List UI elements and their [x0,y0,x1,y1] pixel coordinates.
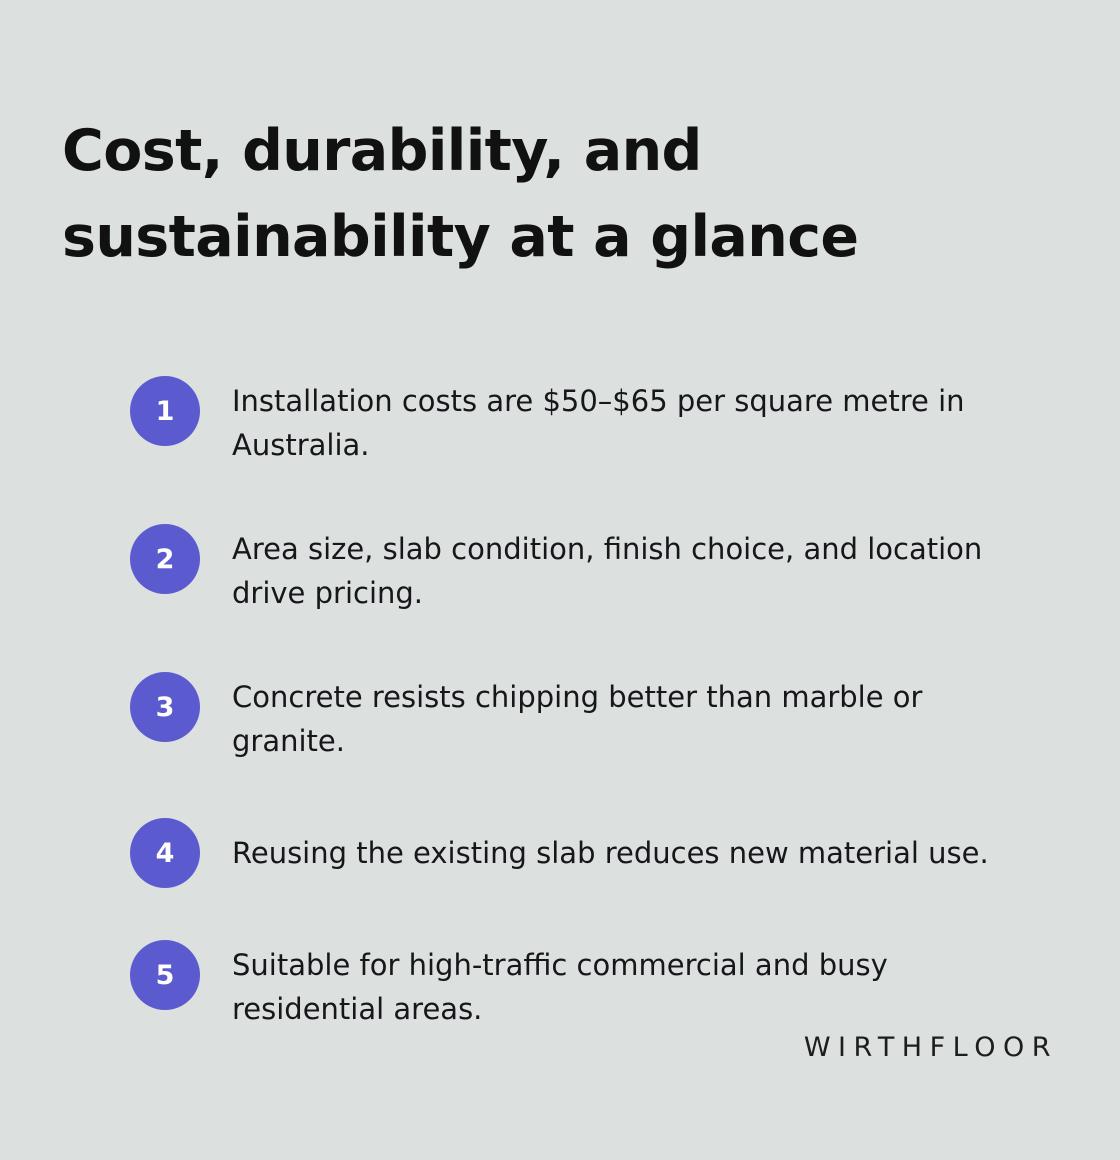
numbered-list: 1 Installation costs are $50–$65 per squ… [130,374,1060,1031]
infographic-poster: Cost, durability, and sustainability at … [0,0,1120,1160]
list-item-text: Concrete resists chipping better than ma… [232,670,1000,763]
list-item-text: Installation costs are $50–$65 per squar… [232,374,1000,467]
list-item: 5 Suitable for high-traffic commercial a… [130,938,1060,1031]
list-item-number-badge: 2 [130,524,200,594]
list-item-text: Reusing the existing slab reduces new ma… [232,831,1000,875]
list-item-number-badge: 4 [130,818,200,888]
list-item-number-badge: 3 [130,672,200,742]
brand-logo: WIRTHFLOOR [804,1032,1058,1063]
list-item: 3 Concrete resists chipping better than … [130,670,1060,763]
list-item: 2 Area size, slab condition, finish choi… [130,522,1060,615]
list-item: 1 Installation costs are $50–$65 per squ… [130,374,1060,467]
list-item-text: Suitable for high-traffic commercial and… [232,938,1000,1031]
page-title: Cost, durability, and sustainability at … [62,108,942,280]
list-item: 4 Reusing the existing slab reduces new … [130,818,1060,888]
list-item-number-badge: 5 [130,940,200,1010]
list-item-number-badge: 1 [130,376,200,446]
list-item-text: Area size, slab condition, finish choice… [232,522,1000,615]
title-block: Cost, durability, and sustainability at … [62,108,942,280]
